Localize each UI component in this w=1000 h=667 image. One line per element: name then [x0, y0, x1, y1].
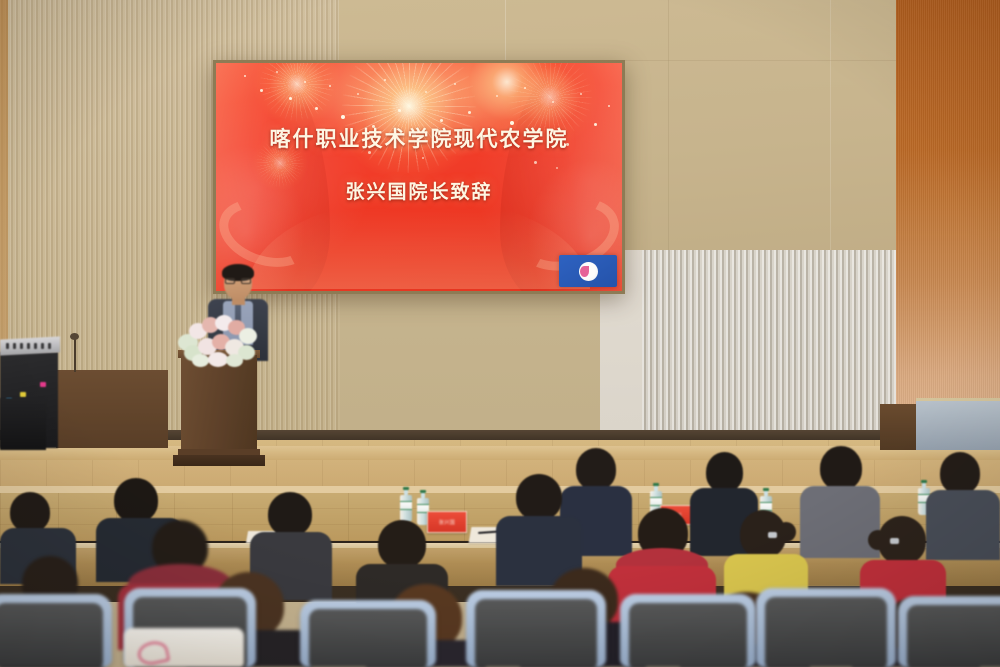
water-bottle: [400, 487, 412, 522]
screen-text-block: 喀什职业技术学院现代农学院 张兴国院长致辞: [216, 127, 622, 205]
led-indicator: [40, 382, 46, 387]
audience-chair: [756, 588, 896, 667]
microphone-icon: [70, 333, 79, 340]
equipment-cabinet: [56, 370, 168, 448]
mixer-knobs: [2, 340, 56, 352]
screen-title-line-1: 喀什职业技术学院现代农学院: [216, 127, 622, 152]
logo-disc-icon: [579, 262, 598, 281]
led-indicator: [20, 392, 26, 397]
wall-seam: [830, 0, 831, 262]
audience-chair: [898, 596, 1000, 667]
speaking-podium: [181, 355, 257, 461]
side-cabinet: [916, 398, 1000, 450]
bag-logo-icon: [136, 639, 170, 667]
audience-chair: [620, 594, 756, 667]
side-cabinet-dark: [880, 404, 920, 450]
audience-chair: [300, 600, 436, 667]
audience-chair: [0, 594, 112, 667]
flower-arrangement: [176, 312, 262, 368]
conference-hall-photo: 喀什职业技术学院现代农学院 张兴国院长致辞: [0, 0, 1000, 667]
eyeglasses-icon: [225, 278, 251, 284]
microphone-stand: [74, 338, 76, 372]
podium-base: [173, 455, 265, 466]
led-screen-surface: 喀什职业技术学院现代农学院 张兴国院长致辞: [216, 63, 622, 291]
wall-seam: [668, 0, 669, 262]
screen-title-line-2: 张兴国院长致辞: [216, 182, 622, 205]
projector-watermark-logo: [559, 255, 617, 287]
audience-chair: [466, 590, 606, 667]
white-tote-bag: [124, 628, 244, 667]
led-screen: 喀什职业技术学院现代农学院 张兴国院长致辞: [213, 60, 625, 294]
floor-speaker: [0, 398, 46, 450]
